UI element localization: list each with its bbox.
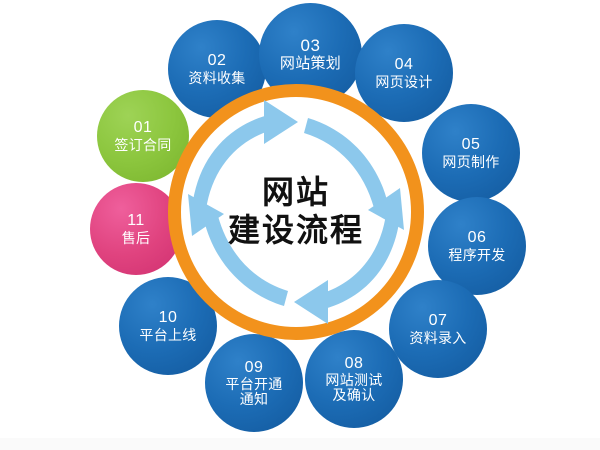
step-node-05[interactable]: 05 网页制作 (422, 104, 520, 202)
step-number-08: 08 (345, 355, 364, 372)
step-label-08: 网站测试 (325, 373, 382, 388)
bottom-band (0, 438, 600, 450)
step-label-05: 网页制作 (442, 155, 499, 170)
step-label-09-line2: 通知 (240, 392, 269, 407)
step-number-06: 06 (468, 229, 487, 246)
process-cycle-diagram: 01 签订合同 02 资料收集 03 网站策划 04 网页设计 05 网页制作 … (0, 0, 600, 450)
step-label-02: 资料收集 (188, 71, 245, 86)
center-ring (168, 84, 424, 340)
step-number-02: 02 (208, 52, 227, 69)
step-label-06: 程序开发 (448, 248, 505, 263)
step-label-07: 资料录入 (409, 331, 466, 346)
step-label-11: 售后 (122, 231, 151, 246)
step-number-07: 07 (429, 312, 448, 329)
step-label-04: 网页设计 (375, 75, 432, 90)
step-node-08[interactable]: 08 网站测试 及确认 (305, 330, 403, 428)
step-number-11: 11 (127, 212, 145, 229)
step-node-07[interactable]: 07 资料录入 (389, 280, 487, 378)
step-node-09[interactable]: 09 平台开通 通知 (205, 334, 303, 432)
step-label-08-line2: 及确认 (333, 388, 376, 403)
step-number-10: 10 (159, 309, 178, 326)
step-label-03: 网站策划 (280, 56, 341, 72)
step-number-03: 03 (301, 37, 321, 55)
step-label-09: 平台开通 (225, 377, 282, 392)
step-label-01: 签订合同 (114, 138, 171, 153)
step-number-01: 01 (134, 119, 153, 136)
step-number-09: 09 (245, 359, 264, 376)
step-number-04: 04 (395, 56, 414, 73)
step-label-10: 平台上线 (139, 328, 196, 343)
step-number-05: 05 (462, 136, 481, 153)
